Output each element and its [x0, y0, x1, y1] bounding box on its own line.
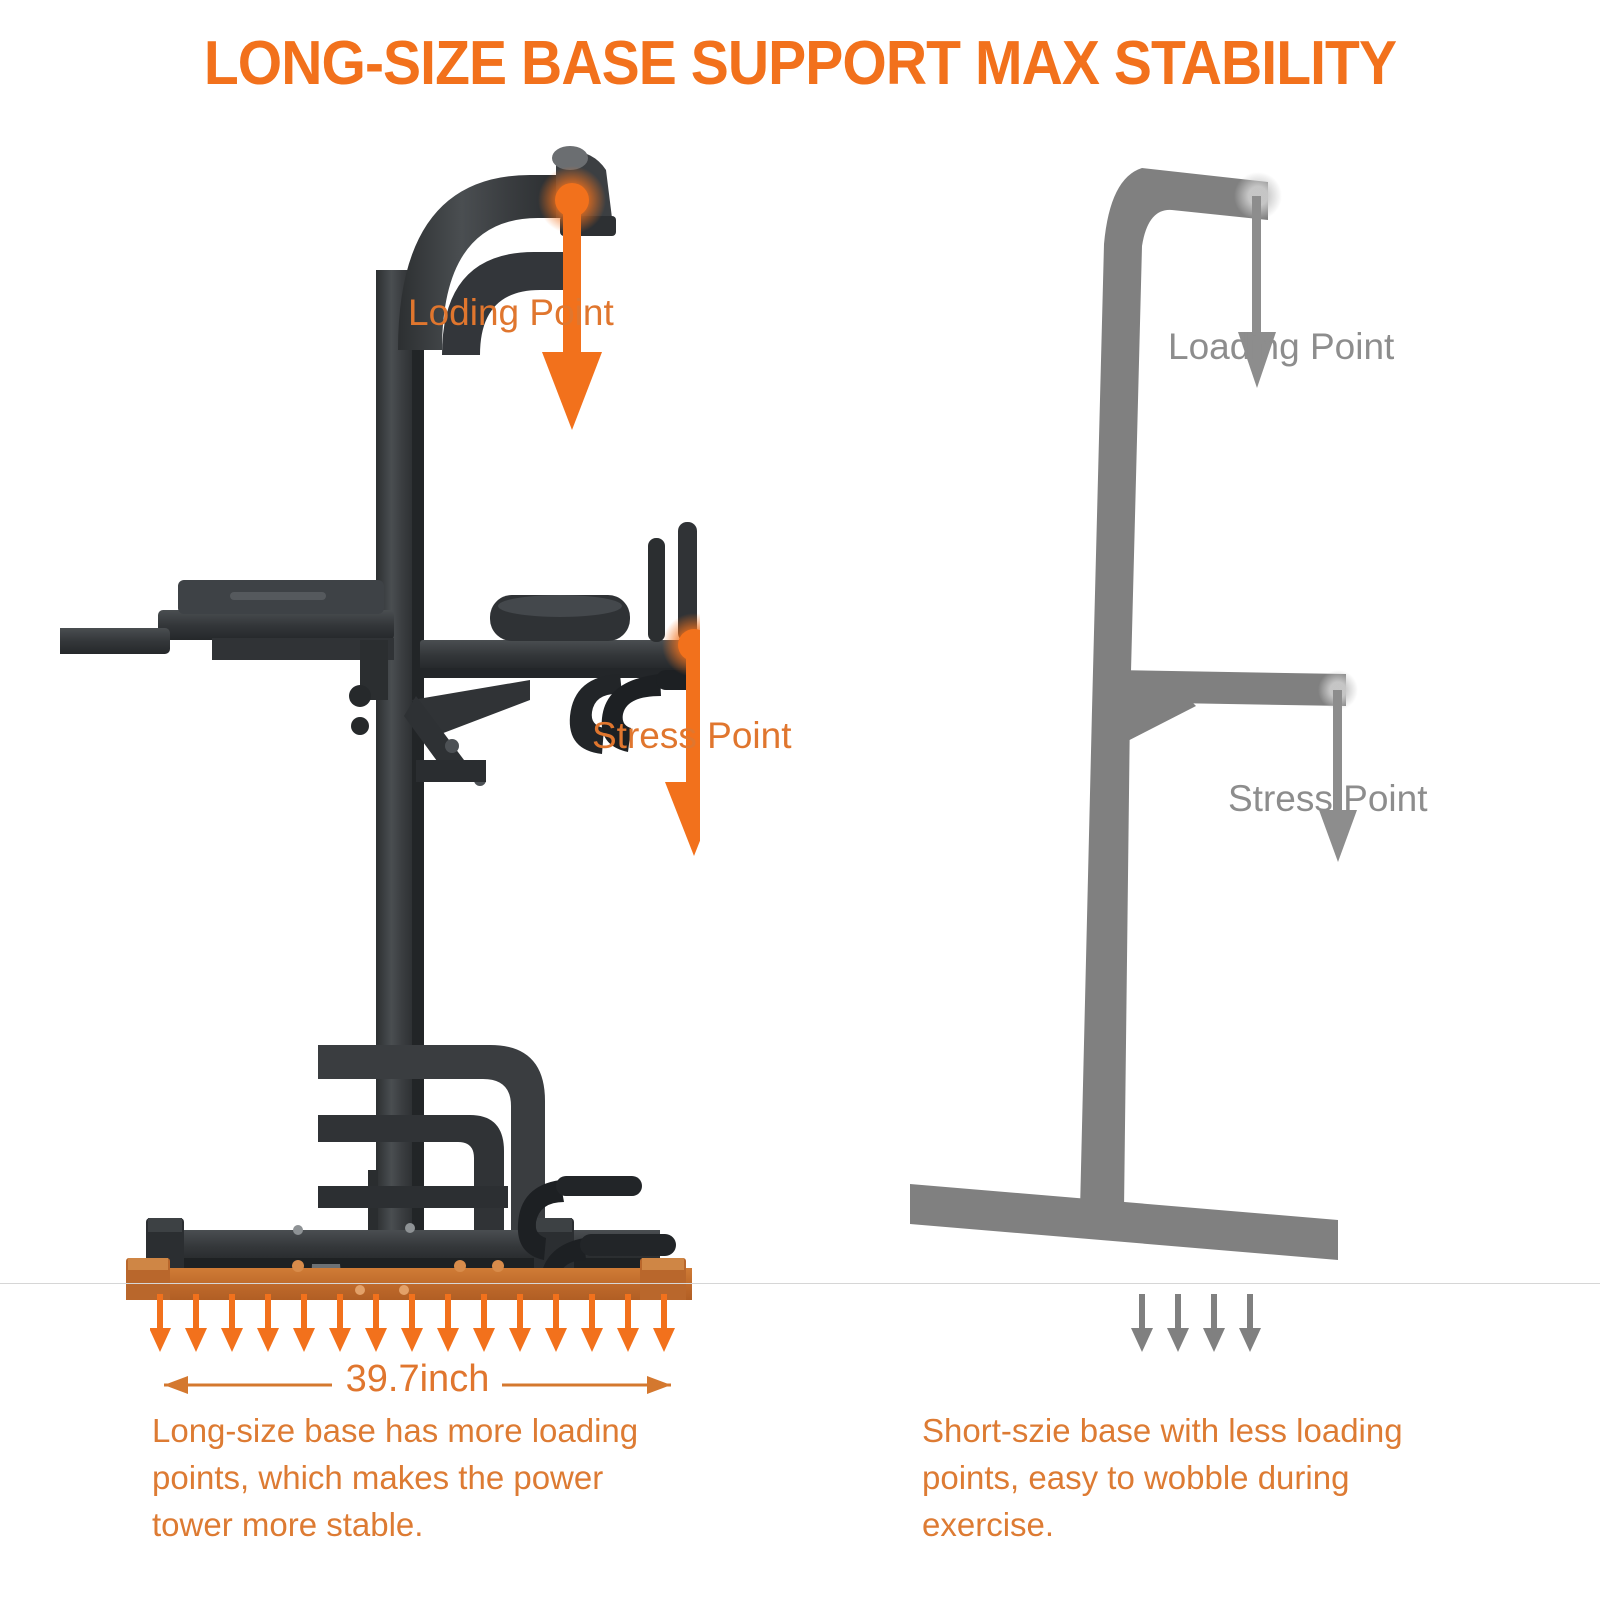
right-stress-arrow — [1319, 690, 1357, 862]
load-arrow-shaft — [1247, 1294, 1253, 1330]
load-arrow-shaft — [373, 1294, 379, 1330]
dimension-value: 39.7inch — [150, 1358, 685, 1401]
load-arrow-head — [653, 1328, 675, 1352]
load-arrow-head — [401, 1328, 423, 1352]
load-arrow-head — [617, 1328, 639, 1352]
right-machine-illustration — [880, 150, 1400, 1290]
load-arrow-head — [437, 1328, 459, 1352]
load-arrow-group — [150, 1292, 680, 1354]
load-arrow-group — [1130, 1292, 1270, 1354]
load-arrow-head — [365, 1328, 387, 1352]
right-caption: Short-szie base with less loading points… — [922, 1408, 1442, 1549]
load-arrow-head — [509, 1328, 531, 1352]
load-arrow-head — [185, 1328, 207, 1352]
load-arrow-shaft — [661, 1294, 667, 1330]
load-arrow-head — [1203, 1328, 1225, 1352]
load-arrow-shaft — [301, 1294, 307, 1330]
load-arrow-head — [1131, 1328, 1153, 1352]
left-caption: Long-size base has more loading points, … — [152, 1408, 672, 1549]
load-arrow-head — [1167, 1328, 1189, 1352]
load-arrow-shaft — [1175, 1294, 1181, 1330]
ground-line — [0, 1283, 1600, 1284]
load-arrow-head — [257, 1328, 279, 1352]
load-arrow-shaft — [589, 1294, 595, 1330]
load-arrow-shaft — [1139, 1294, 1145, 1330]
left-load-arrows — [150, 1292, 680, 1354]
load-arrow-shaft — [193, 1294, 199, 1330]
load-arrow-shaft — [445, 1294, 451, 1330]
load-arrow-shaft — [1211, 1294, 1217, 1330]
left-stress-point-label: Stress Point — [592, 715, 791, 757]
load-arrow-head — [545, 1328, 567, 1352]
right-load-arrows — [1130, 1292, 1270, 1354]
left-loading-point-label: Loding Point — [408, 292, 614, 334]
load-arrow-shaft — [229, 1294, 235, 1330]
load-arrow-shaft — [625, 1294, 631, 1330]
short-base-tower-svg — [880, 150, 1400, 1290]
load-arrow-head — [150, 1328, 171, 1352]
load-arrow-head — [329, 1328, 351, 1352]
load-arrow-shaft — [553, 1294, 559, 1330]
right-loading-point-label: Loading Point — [1168, 326, 1394, 368]
load-arrow-head — [293, 1328, 315, 1352]
page-title: LONG-SIZE BASE SUPPORT MAX STABILITY — [64, 28, 1536, 99]
load-arrow-shaft — [409, 1294, 415, 1330]
right-stress-point-label: Stress Point — [1228, 778, 1427, 820]
load-arrow-head — [221, 1328, 243, 1352]
load-arrow-shaft — [517, 1294, 523, 1330]
load-arrow-head — [473, 1328, 495, 1352]
load-arrow-shaft — [337, 1294, 343, 1330]
load-arrow-shaft — [157, 1294, 163, 1330]
load-arrow-shaft — [265, 1294, 271, 1330]
load-arrow-head — [1239, 1328, 1261, 1352]
load-arrow-head — [581, 1328, 603, 1352]
load-arrow-shaft — [481, 1294, 487, 1330]
